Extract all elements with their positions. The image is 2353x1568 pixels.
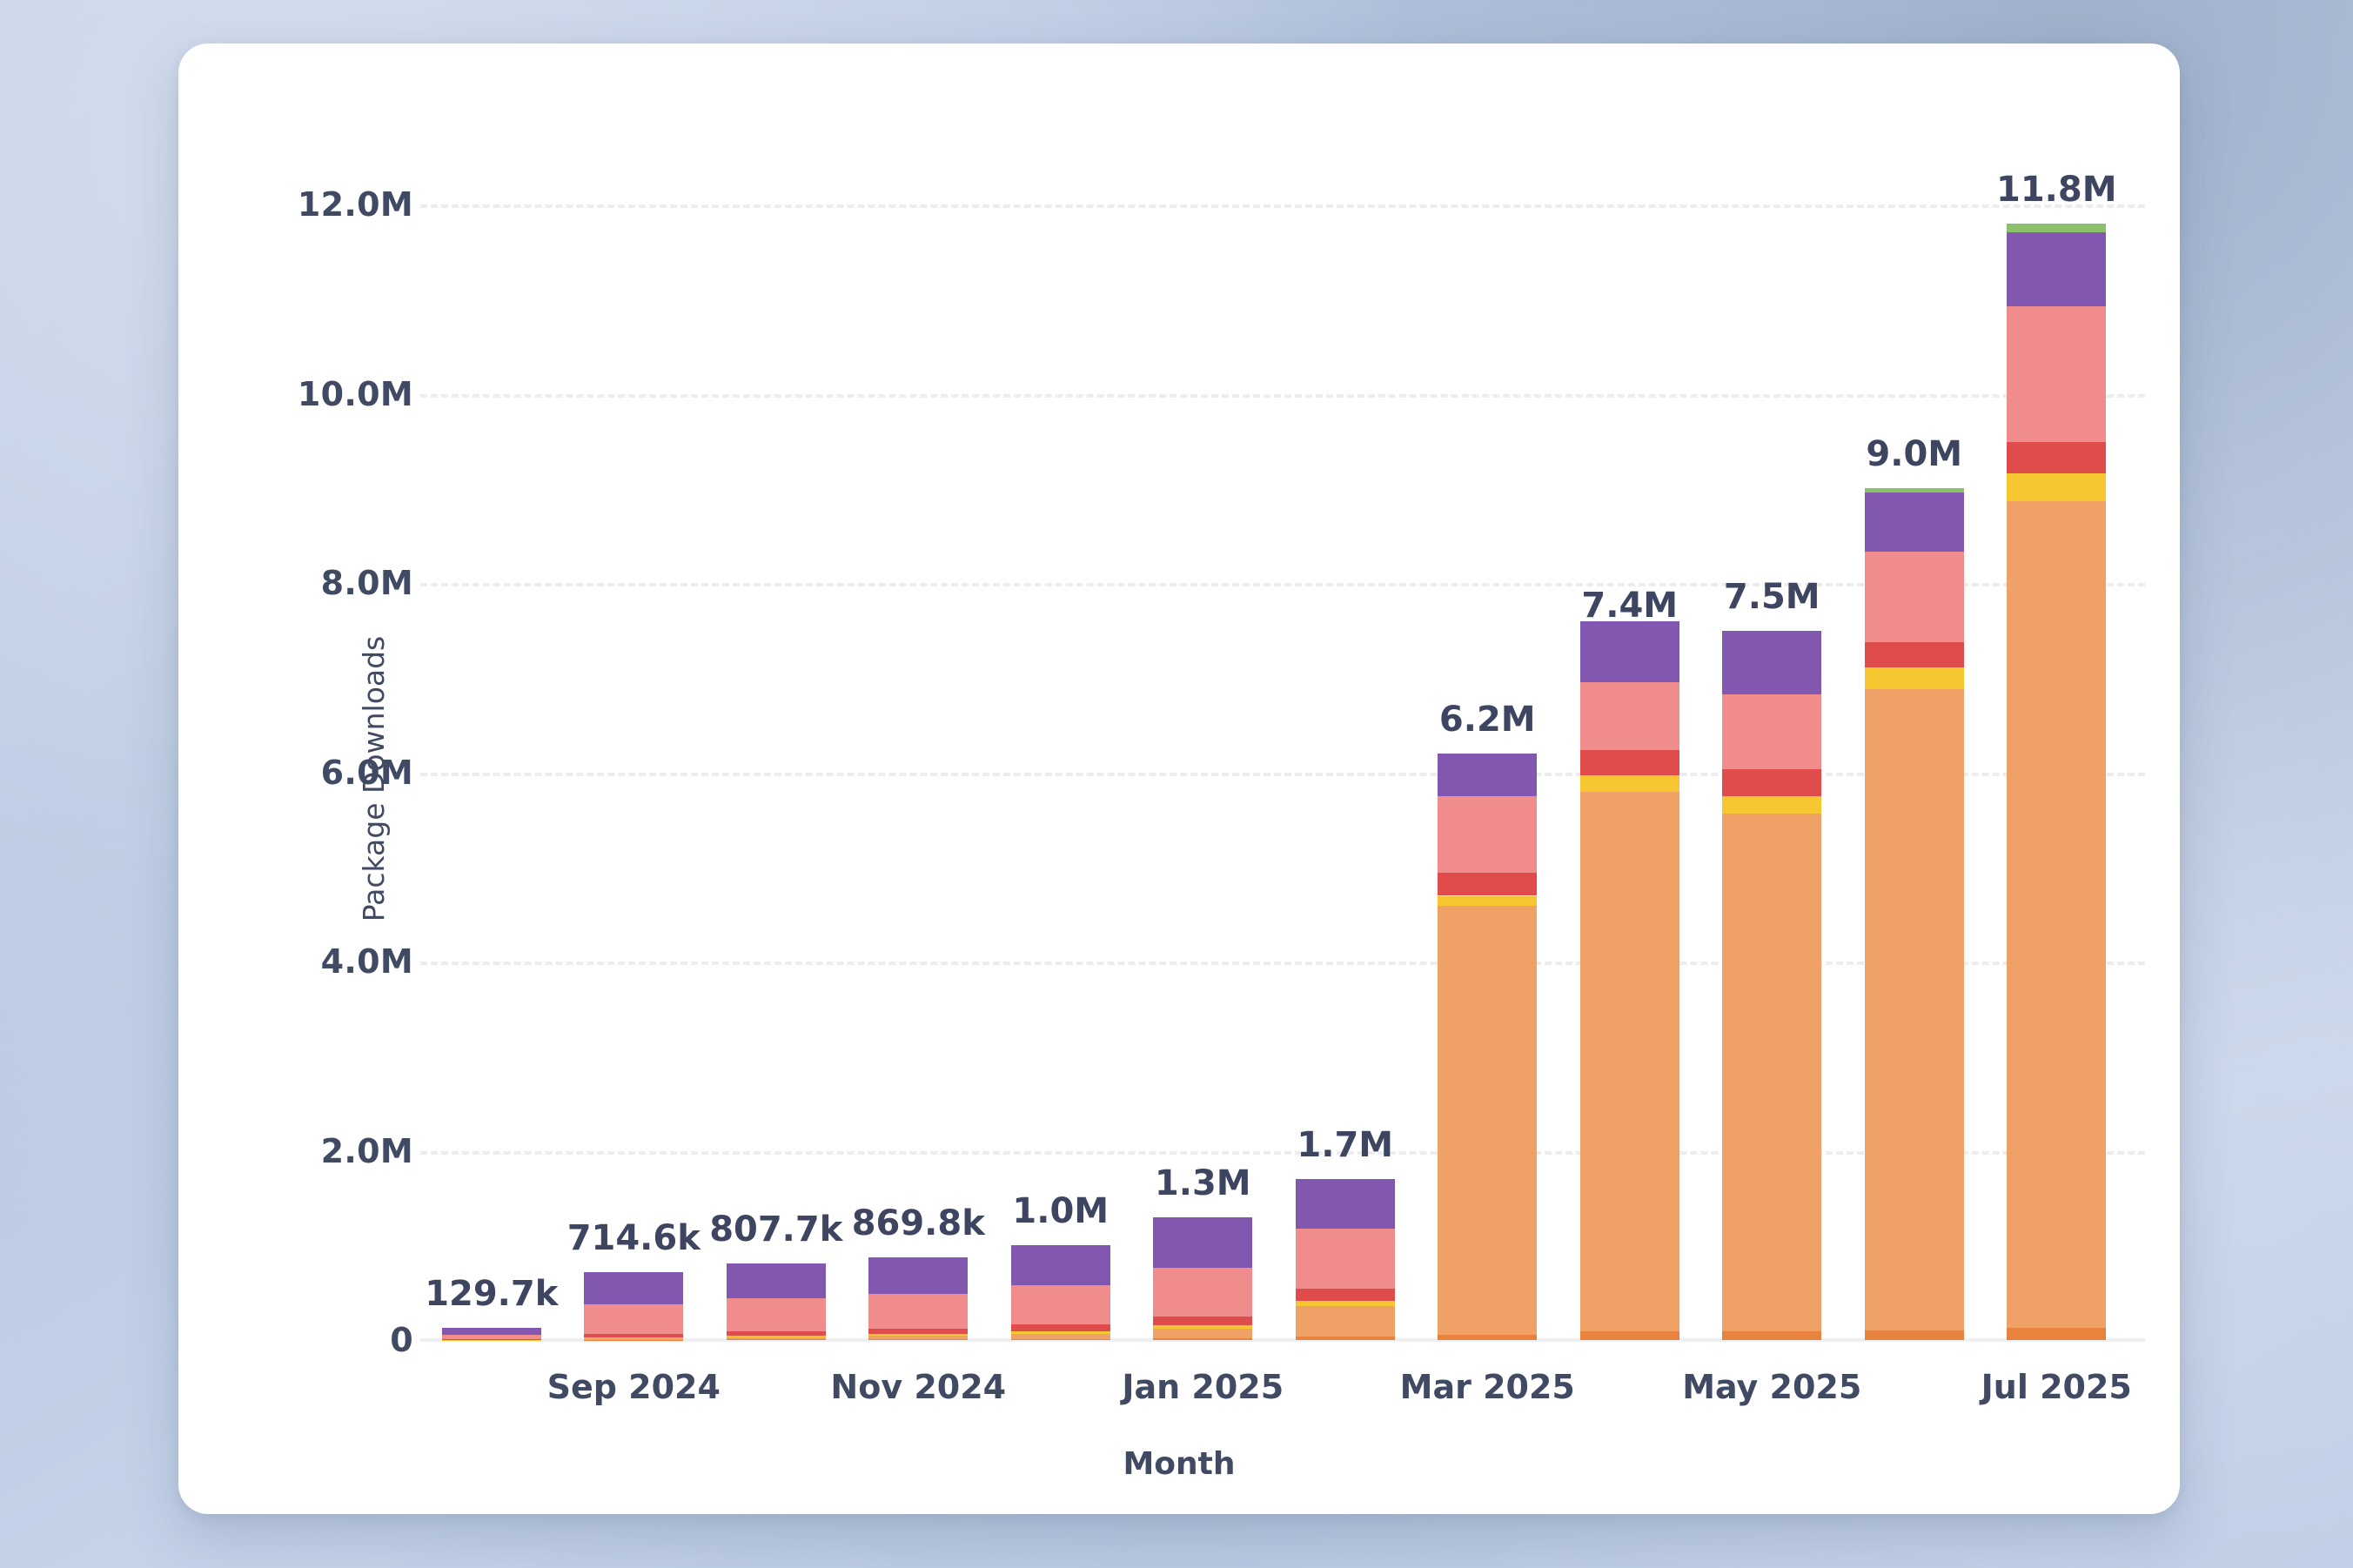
bar-jul-2025[interactable]: [2007, 148, 2106, 1340]
bar-segment-purple[interactable]: [1722, 631, 1821, 694]
bar-segment-red[interactable]: [584, 1334, 683, 1337]
bar-segment-salmon[interactable]: [442, 1335, 541, 1339]
bar-segment-orange[interactable]: [1153, 1329, 1252, 1337]
bar-segment-purple[interactable]: [442, 1328, 541, 1335]
bar-segment-salmon[interactable]: [1722, 694, 1821, 769]
bar-oct-2024[interactable]: [727, 148, 826, 1340]
bar-segment-purple[interactable]: [727, 1263, 826, 1298]
bar-segment-salmon[interactable]: [1011, 1285, 1110, 1324]
bar-total-label: 1.7M: [1297, 1125, 1393, 1165]
bar-segment-green[interactable]: [1865, 488, 1964, 492]
bar-segment-purple[interactable]: [584, 1272, 683, 1304]
bar-segment-red[interactable]: [727, 1331, 826, 1336]
x-axis-tick-label: May 2025: [1682, 1368, 1861, 1406]
y-axis-tick-label: 8.0M: [321, 564, 413, 602]
bar-segment-purple[interactable]: [1296, 1179, 1395, 1229]
bar-segment-orange-dark[interactable]: [1865, 1330, 1964, 1340]
bar-total-label: 714.6k: [567, 1218, 701, 1258]
bar-segment-purple[interactable]: [1865, 493, 1964, 553]
bar-segment-yellow[interactable]: [1580, 775, 1679, 792]
x-axis-title: Month: [178, 1446, 2180, 1482]
bar-segment-salmon[interactable]: [1438, 796, 1537, 873]
bar-segment-purple[interactable]: [1438, 754, 1537, 796]
x-axis-tick-label: Jan 2025: [1122, 1368, 1284, 1406]
bar-total-label: 11.8M: [1996, 170, 2117, 210]
y-axis-tick-label: 4.0M: [321, 942, 413, 981]
y-axis-tick-label: 2.0M: [321, 1132, 413, 1170]
bar-segment-red[interactable]: [1580, 750, 1679, 776]
bar-segment-salmon[interactable]: [868, 1294, 968, 1329]
bar-segment-red[interactable]: [1722, 769, 1821, 797]
y-axis-tick-label: 0: [390, 1321, 413, 1359]
bar-segment-orange[interactable]: [1011, 1334, 1110, 1339]
bar-segment-yellow[interactable]: [1722, 796, 1821, 814]
bar-total-label: 9.0M: [1866, 434, 1962, 474]
bar-segment-yellow[interactable]: [442, 1340, 541, 1341]
bar-total-label: 7.4M: [1581, 586, 1678, 626]
bar-may-2025[interactable]: [1722, 148, 1821, 1340]
y-axis-tick-label: 10.0M: [298, 375, 413, 413]
bar-segment-yellow[interactable]: [584, 1337, 683, 1338]
bar-segment-yellow[interactable]: [1865, 667, 1964, 689]
x-axis-tick-label: Sep 2024: [547, 1368, 721, 1406]
bar-total-label: 129.7k: [425, 1274, 558, 1314]
bar-segment-orange-dark[interactable]: [868, 1339, 968, 1340]
bar-segment-yellow[interactable]: [727, 1336, 826, 1337]
bar-segment-yellow[interactable]: [1011, 1331, 1110, 1334]
bar-total-label: 1.3M: [1155, 1163, 1251, 1203]
bar-segment-orange[interactable]: [1438, 906, 1537, 1335]
bar-segment-orange-dark[interactable]: [1153, 1338, 1252, 1340]
bar-segment-orange[interactable]: [727, 1337, 826, 1339]
bar-segment-green[interactable]: [2007, 224, 2106, 232]
y-axis-tick-label: 12.0M: [298, 185, 413, 224]
bar-jan-2025[interactable]: [1153, 148, 1252, 1340]
bar-total-label: 7.5M: [1724, 577, 1820, 617]
bar-segment-red[interactable]: [868, 1329, 968, 1334]
bar-segment-red[interactable]: [1865, 642, 1964, 667]
bar-segment-red[interactable]: [1438, 873, 1537, 896]
bar-mar-2025[interactable]: [1438, 148, 1537, 1340]
bar-segment-purple[interactable]: [1153, 1217, 1252, 1269]
bar-segment-salmon[interactable]: [584, 1304, 683, 1334]
bar-segment-orange[interactable]: [1865, 689, 1964, 1330]
bar-segment-salmon[interactable]: [727, 1298, 826, 1332]
bar-segment-red[interactable]: [442, 1339, 541, 1340]
bar-segment-salmon[interactable]: [1296, 1229, 1395, 1289]
bar-segment-orange[interactable]: [1580, 792, 1679, 1331]
bar-segment-red[interactable]: [1296, 1289, 1395, 1301]
bar-segment-yellow[interactable]: [1296, 1301, 1395, 1307]
bar-segment-orange-dark[interactable]: [1011, 1339, 1110, 1340]
bar-sep-2024[interactable]: [584, 148, 683, 1340]
bar-segment-yellow[interactable]: [1153, 1325, 1252, 1329]
x-axis-tick-label: Nov 2024: [830, 1368, 1006, 1406]
bar-total-label: 6.2M: [1439, 700, 1536, 740]
bar-apr-2025[interactable]: [1580, 148, 1679, 1340]
bar-total-label: 1.0M: [1012, 1191, 1109, 1231]
bar-segment-orange-dark[interactable]: [1438, 1335, 1537, 1340]
bar-segment-red[interactable]: [2007, 442, 2106, 473]
bar-segment-salmon[interactable]: [1865, 552, 1964, 642]
bar-total-label: 807.7k: [709, 1210, 842, 1250]
bar-segment-red[interactable]: [1153, 1317, 1252, 1325]
bar-segment-salmon[interactable]: [2007, 306, 2106, 443]
bar-segment-purple[interactable]: [868, 1257, 968, 1294]
bar-dec-2024[interactable]: [1011, 148, 1110, 1340]
bar-segment-yellow[interactable]: [868, 1334, 968, 1336]
bar-jun-2025[interactable]: [1865, 148, 1964, 1340]
bar-segment-orange[interactable]: [868, 1336, 968, 1339]
bar-segment-purple[interactable]: [1011, 1245, 1110, 1285]
bar-segment-orange-dark[interactable]: [584, 1340, 683, 1341]
bar-segment-purple[interactable]: [2007, 232, 2106, 306]
bar-segment-red[interactable]: [1011, 1324, 1110, 1330]
bar-segment-salmon[interactable]: [1153, 1268, 1252, 1316]
bar-segment-orange[interactable]: [2007, 501, 2106, 1328]
x-axis-tick-label: Jul 2025: [1981, 1368, 2132, 1406]
bar-segment-yellow[interactable]: [1438, 896, 1537, 907]
stacked-bar-chart: Package Downloads Month 02.0M4.0M6.0M8.0…: [178, 44, 2180, 1514]
y-axis-tick-label: 6.0M: [321, 754, 413, 792]
x-axis-tick-label: Mar 2025: [1400, 1368, 1575, 1406]
bar-segment-purple[interactable]: [1580, 621, 1679, 683]
bar-segment-orange-dark[interactable]: [2007, 1328, 2106, 1340]
bar-segment-orange-dark[interactable]: [727, 1339, 826, 1340]
bar-nov-2024[interactable]: [868, 148, 968, 1340]
bar-segment-salmon[interactable]: [1580, 682, 1679, 749]
bar-total-label: 869.8k: [852, 1203, 985, 1243]
bar-segment-yellow[interactable]: [2007, 473, 2106, 501]
bar-segment-orange-dark[interactable]: [1580, 1331, 1679, 1340]
bar-segment-orange[interactable]: [1296, 1306, 1395, 1337]
bar-segment-orange-dark[interactable]: [1722, 1331, 1821, 1340]
bar-segment-orange[interactable]: [584, 1338, 683, 1339]
chart-card: Package Downloads Month 02.0M4.0M6.0M8.0…: [178, 44, 2180, 1514]
bar-segment-orange-dark[interactable]: [1296, 1337, 1395, 1340]
bar-segment-orange[interactable]: [1722, 814, 1821, 1331]
bar-aug-2024[interactable]: [442, 148, 541, 1340]
